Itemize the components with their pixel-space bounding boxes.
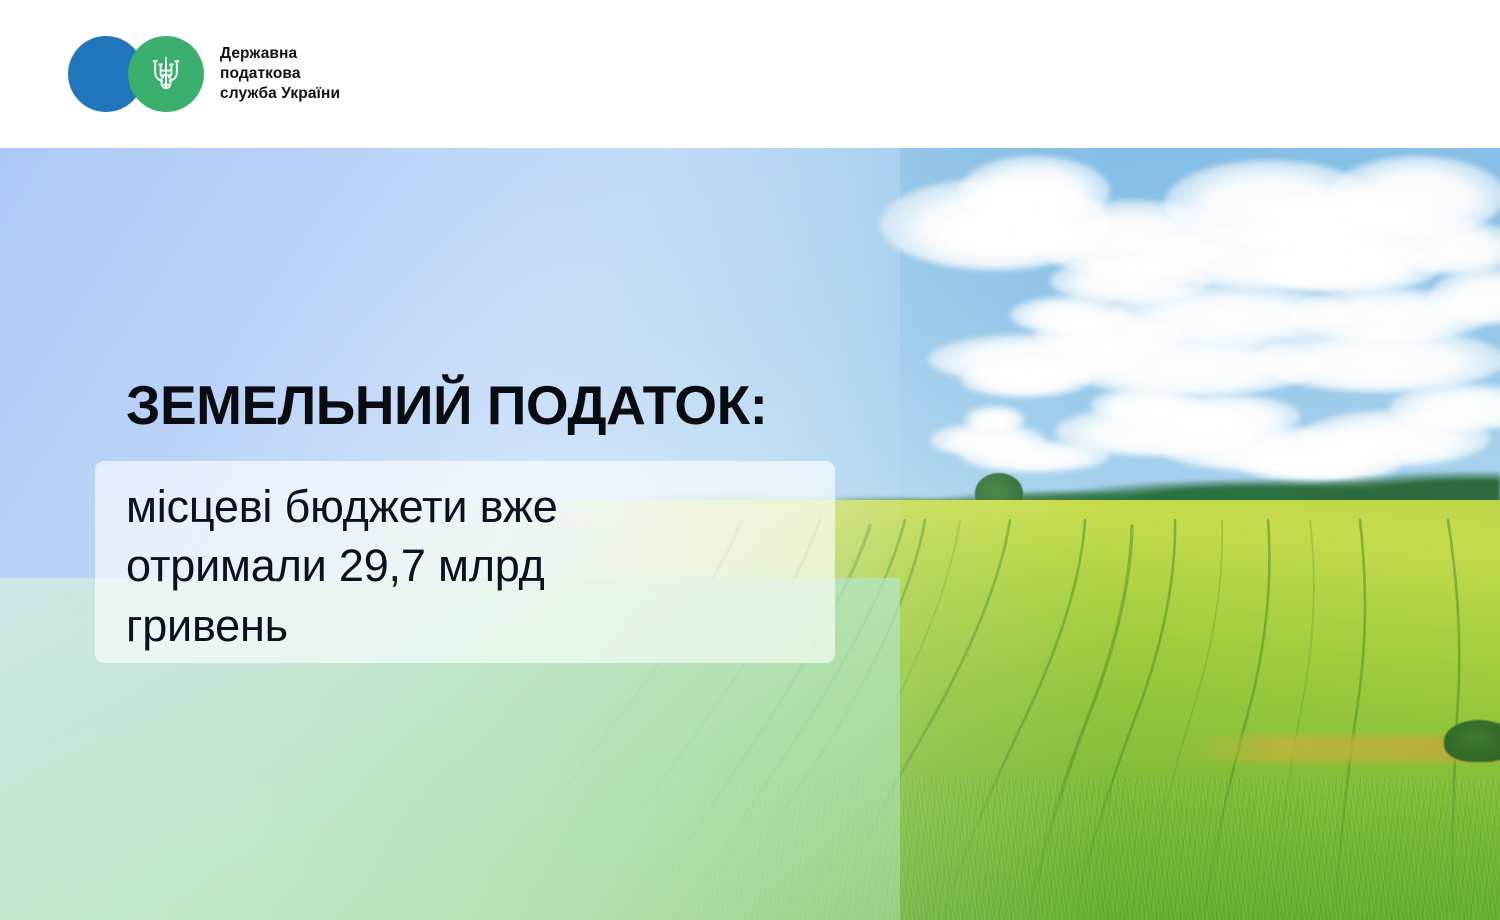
brand-header: Державна податкова служба України: [0, 0, 1500, 148]
subtitle-line-2: отримали 29,7 млрд: [126, 536, 826, 595]
slide-canvas: Державна податкова служба України: [0, 0, 1500, 920]
logo-marks: [68, 36, 204, 112]
page-subtitle: місцеві бюджети вже отримали 29,7 млрд г…: [126, 477, 826, 655]
page-title: ЗЕМЕЛЬНИЙ ПОДАТОК:: [126, 378, 767, 433]
organization-name: Державна податкова служба України: [220, 44, 340, 103]
organization-logo[interactable]: Державна податкова служба України: [68, 36, 340, 112]
subtitle-line-1: місцеві бюджети вже: [126, 477, 826, 536]
logo-text-line-1: Державна: [220, 44, 340, 64]
ukraine-trident-icon: [128, 36, 204, 112]
logo-text-line-3: служба України: [220, 84, 340, 104]
logo-text-line-2: податкова: [220, 64, 340, 84]
subtitle-line-3: гривень: [126, 596, 826, 655]
